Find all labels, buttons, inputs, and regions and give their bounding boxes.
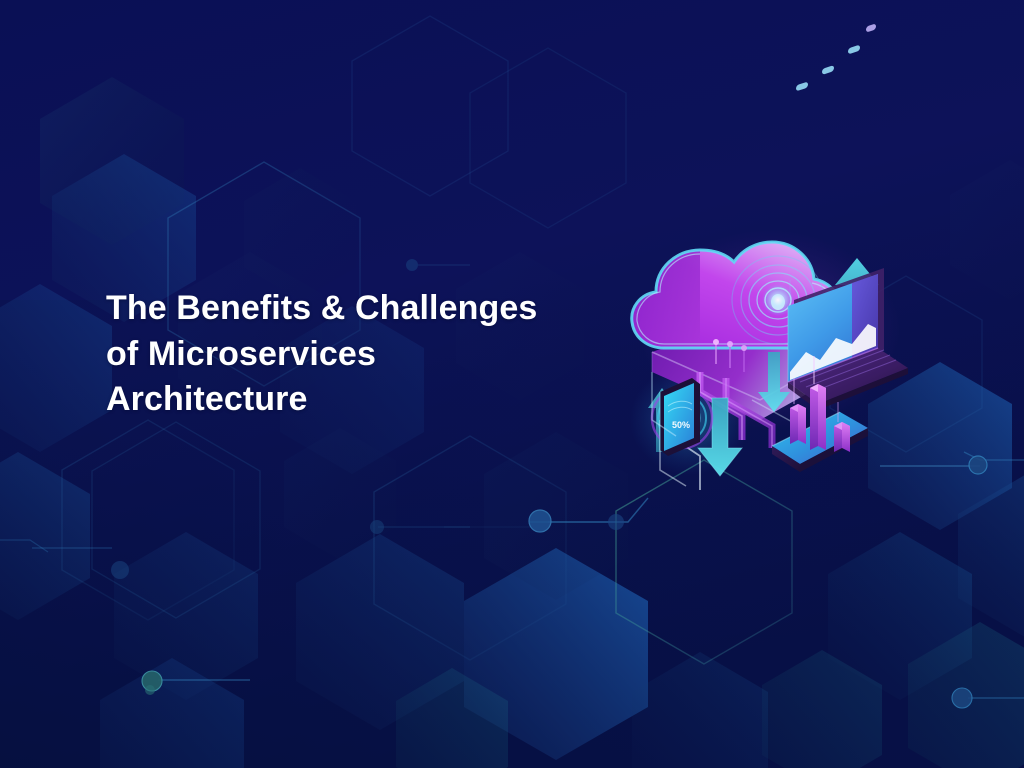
network-node (608, 514, 624, 530)
network-node (969, 456, 987, 474)
slide-title: The Benefits & Challenges of Microservic… (106, 286, 586, 423)
network-node (406, 259, 418, 271)
title-block: The Benefits & Challenges of Microservic… (106, 286, 586, 423)
slide-canvas: The Benefits & Challenges of Microservic… (0, 0, 1024, 768)
network-node (370, 520, 384, 534)
network-node (529, 510, 551, 532)
network-node (145, 685, 155, 695)
network-node (952, 688, 972, 708)
network-node (111, 561, 129, 579)
